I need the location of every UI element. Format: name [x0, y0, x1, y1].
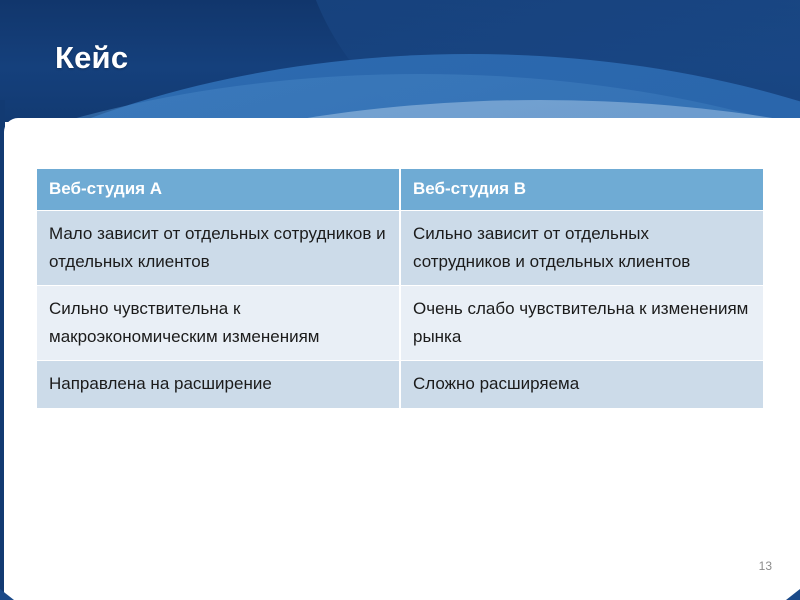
cell-studio-b-scalability: Сложно расширяема [401, 361, 763, 408]
cell-studio-b-dependency: Сильно зависит от отдельных сотрудников … [401, 211, 763, 285]
column-header-studio-a: Веб-студия А [37, 169, 399, 210]
cell-studio-a-sensitivity: Сильно чувствительна к макроэкономически… [37, 286, 399, 360]
bottom-right-corner-accent [786, 589, 800, 600]
cell-studio-b-sensitivity: Очень слабо чувствительна к изменениям р… [401, 286, 763, 360]
table-body: Мало зависит от отдельных сотрудников и … [37, 211, 763, 408]
bottom-left-corner-accent [0, 589, 14, 600]
slide: Кейс Веб-студия А Веб-студия В Мало зави… [0, 0, 800, 600]
comparison-table-container: Веб-студия А Веб-студия В Мало зависит о… [35, 168, 765, 409]
cell-studio-a-dependency: Мало зависит от отдельных сотрудников и … [37, 211, 399, 285]
table-row: Направлена на расширение Сложно расширяе… [37, 361, 763, 408]
page-number: 13 [759, 559, 772, 573]
comparison-table: Веб-студия А Веб-студия В Мало зависит о… [35, 168, 765, 409]
page-title: Кейс [55, 40, 128, 76]
table-head: Веб-студия А Веб-студия В [37, 169, 763, 210]
table-header-row: Веб-студия А Веб-студия В [37, 169, 763, 210]
column-header-studio-b: Веб-студия В [401, 169, 763, 210]
table-row: Сильно чувствительна к макроэкономически… [37, 286, 763, 360]
table-row: Мало зависит от отдельных сотрудников и … [37, 211, 763, 285]
cell-studio-a-scalability: Направлена на расширение [37, 361, 399, 408]
